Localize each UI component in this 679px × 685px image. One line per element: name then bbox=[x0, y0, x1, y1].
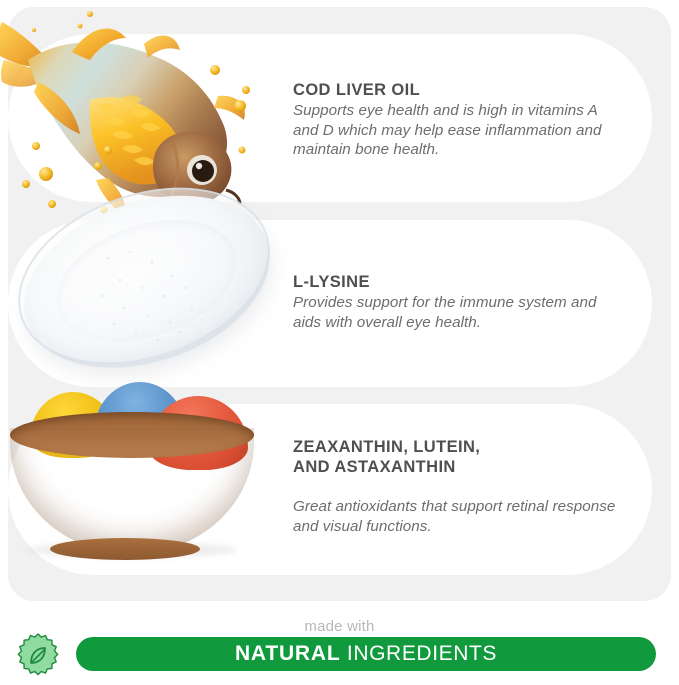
ingredient-card-cod-liver-oil: COD LIVER OIL Supports eye health and is… bbox=[8, 34, 652, 202]
ingredient-description: Supports eye health and is high in vitam… bbox=[293, 101, 618, 160]
ingredient-heading: L-LYSINE bbox=[293, 272, 618, 292]
card-text-block: L-LYSINE Provides support for the immune… bbox=[293, 272, 618, 332]
card-text-block: ZEAXANTHIN, LUTEIN, AND ASTAXANTHIN Grea… bbox=[293, 437, 618, 536]
ingredient-description: Provides support for the immune system a… bbox=[293, 293, 618, 332]
banner-bold-word: NATURAL bbox=[235, 642, 341, 665]
banner-text: NATURAL INGREDIENTS bbox=[235, 642, 497, 666]
ingredient-description: Great antioxidants that support retinal … bbox=[293, 497, 618, 536]
ingredient-infographic: { "theme": { "panel_bg": "#f1f1f1", "car… bbox=[0, 0, 679, 682]
card-text-block: COD LIVER OIL Supports eye health and is… bbox=[293, 80, 618, 160]
ingredient-heading-line-2: AND ASTAXANTHIN bbox=[293, 457, 618, 477]
banner-light-text: INGREDIENTS bbox=[347, 642, 497, 665]
content-panel: COD LIVER OIL Supports eye health and is… bbox=[8, 7, 671, 601]
ingredient-heading-line-1: ZEAXANTHIN, LUTEIN, bbox=[293, 438, 480, 456]
ingredient-card-carotenoids: ZEAXANTHIN, LUTEIN, AND ASTAXANTHIN Grea… bbox=[8, 404, 652, 575]
leaf-badge-icon bbox=[14, 632, 62, 680]
ingredient-heading: COD LIVER OIL bbox=[293, 80, 618, 100]
ingredient-card-l-lysine: L-LYSINE Provides support for the immune… bbox=[8, 220, 652, 387]
ingredient-heading: ZEAXANTHIN, LUTEIN, AND ASTAXANTHIN bbox=[293, 437, 618, 477]
natural-ingredients-banner: NATURAL INGREDIENTS bbox=[76, 637, 656, 671]
made-with-label: made with bbox=[0, 618, 679, 635]
